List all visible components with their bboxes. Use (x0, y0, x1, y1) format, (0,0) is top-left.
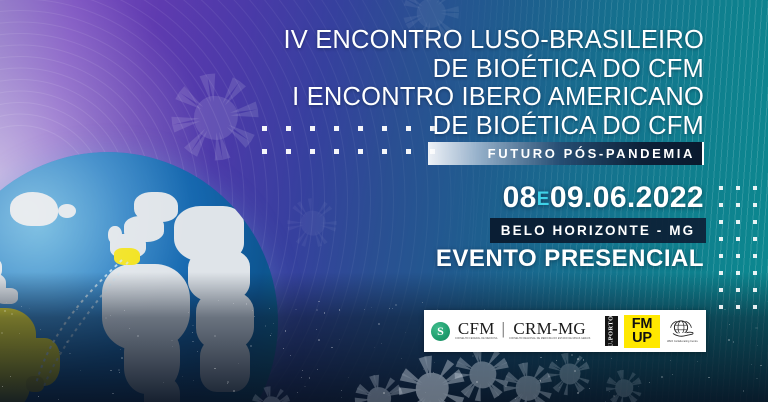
event-format-label: EVENTO PRESENCIAL (436, 245, 704, 273)
particle-speck (538, 378, 539, 379)
particle-speck (729, 324, 730, 325)
particle-speck (613, 395, 615, 397)
date-day-second: 09.06.2022 (550, 181, 704, 214)
grid-dot (753, 254, 757, 258)
particle-speck (677, 308, 678, 309)
particle-speck (756, 378, 758, 380)
particle-speck (559, 387, 560, 388)
grid-dot (753, 220, 757, 224)
grid-dot (382, 149, 387, 154)
virus-particle-icon (352, 372, 406, 402)
particle-speck (318, 301, 319, 302)
particle-speck (472, 355, 474, 357)
particle-speck (540, 357, 541, 358)
grid-dot (262, 149, 267, 154)
grid-dot (719, 254, 723, 258)
particle-speck (760, 365, 761, 366)
virus-particle-icon (452, 344, 514, 402)
theme-banner: FUTURO PÓS-PANDEMIA (428, 142, 704, 165)
particle-speck (728, 339, 730, 341)
grid-dot (753, 288, 757, 292)
uporto-logo: U.PORTO (605, 316, 618, 346)
grid-dot (719, 220, 723, 224)
particle-speck (540, 380, 541, 381)
particle-speck (708, 377, 709, 378)
particle-speck (757, 345, 758, 346)
grid-dot (753, 203, 757, 207)
virus-particle-icon (604, 368, 644, 402)
globe-illustration (0, 152, 278, 402)
fmup-logo: FM UP (624, 315, 660, 348)
grid-dot (736, 288, 740, 292)
particle-speck (364, 309, 365, 310)
grid-dot (310, 149, 315, 154)
grid-dot (286, 149, 291, 154)
virus-particle-icon (395, 352, 469, 402)
particle-speck (295, 309, 296, 310)
title-line-3: I ENCONTRO IBERO AMERICANO (283, 83, 704, 112)
who-collaborating-centre-logo: WHO Collaborating Centre (666, 315, 699, 348)
particle-speck (318, 339, 320, 341)
grid-dot (753, 186, 757, 190)
virus-particle-icon (546, 350, 594, 398)
cfm-seal-icon: S (431, 322, 450, 341)
particle-speck (389, 308, 390, 309)
fmup-line-1: FM (632, 317, 653, 331)
grid-dot (719, 305, 723, 309)
theme-banner-label: FUTURO PÓS-PANDEMIA (488, 142, 695, 165)
particle-speck (316, 329, 317, 330)
grid-dot (736, 254, 740, 258)
grid-dot (736, 203, 740, 207)
particle-speck (383, 392, 385, 394)
sponsor-logo-bar: S CFM CONSELHO FEDERAL DE MEDICINA | CRM… (424, 310, 706, 352)
particle-speck (743, 390, 744, 391)
particle-speck (381, 343, 382, 344)
particle-speck (583, 359, 584, 360)
particle-speck (556, 360, 557, 361)
city-band: BELO HORIZONTE - MG (490, 218, 706, 243)
who-globe-hand-icon (670, 319, 696, 339)
particle-speck (638, 386, 639, 387)
grid-dot (719, 203, 723, 207)
particle-speck (423, 369, 424, 370)
grid-dot (719, 237, 723, 241)
grid-dot (358, 149, 363, 154)
grid-dot (719, 288, 723, 292)
logo-divider: | (502, 320, 505, 338)
cfm-name: CFM (458, 320, 495, 338)
title-line-1: IV ENCONTRO LUSO-BRASILEIRO (283, 26, 704, 55)
particle-speck (341, 390, 342, 391)
grid-dot (736, 186, 740, 190)
particle-speck (735, 301, 736, 302)
particle-speck (755, 327, 757, 329)
virus-particle-icon (286, 196, 340, 250)
particle-speck (733, 341, 735, 343)
particle-speck (395, 304, 397, 306)
grid-dot (736, 271, 740, 275)
grid-dot (753, 271, 757, 275)
cfm-subtitle: CONSELHO FEDERAL DE MEDICINA (455, 338, 498, 342)
particle-speck (331, 347, 332, 348)
fmup-line-2: UP (632, 331, 652, 345)
grid-dot (262, 126, 267, 131)
particle-speck (317, 369, 318, 370)
date-conjunction: E (537, 189, 550, 210)
particle-speck (339, 309, 340, 310)
particle-speck (401, 358, 402, 359)
city-label: BELO HORIZONTE - MG (490, 218, 706, 243)
particle-speck (589, 388, 590, 389)
particle-speck (661, 376, 663, 378)
particle-speck (348, 377, 349, 378)
particle-speck (611, 358, 612, 359)
particle-speck (371, 307, 372, 308)
particle-speck (309, 377, 310, 378)
particle-speck (697, 361, 698, 362)
particle-speck (324, 312, 325, 313)
event-banner: IV ENCONTRO LUSO-BRASILEIRO DE BIOÉTICA … (0, 0, 768, 402)
particle-speck (425, 392, 426, 393)
grid-dot (753, 305, 757, 309)
date-day-first: 08 (503, 181, 537, 214)
cfm-crm-logo: S CFM CONSELHO FEDERAL DE MEDICINA | CRM… (431, 320, 599, 341)
who-subtitle: WHO Collaborating Centre (667, 339, 698, 343)
event-title: IV ENCONTRO LUSO-BRASILEIRO DE BIOÉTICA … (283, 26, 704, 140)
grid-dot (719, 186, 723, 190)
grid-dot (736, 220, 740, 224)
particle-speck (571, 354, 573, 356)
particle-speck (290, 355, 291, 356)
grid-dot (753, 237, 757, 241)
grid-dot (334, 149, 339, 154)
particle-speck (577, 392, 578, 393)
virus-particle-icon (500, 360, 556, 402)
particle-speck (422, 302, 423, 303)
grid-dot (736, 237, 740, 241)
particle-speck (672, 374, 673, 375)
particle-speck (609, 391, 610, 392)
particle-speck (577, 358, 579, 360)
particle-speck (316, 309, 318, 311)
virus-particle-icon (168, 70, 264, 166)
grid-dot (406, 149, 411, 154)
grid-dot (719, 271, 723, 275)
particle-speck (515, 398, 516, 399)
particle-speck (434, 362, 435, 363)
particle-speck (339, 339, 340, 340)
uporto-name: U.PORTO (608, 315, 615, 347)
particle-speck (724, 309, 725, 310)
particle-speck (301, 377, 303, 379)
event-date: 08E09.06.2022 (503, 181, 704, 215)
crm-subtitle: CONSELHO REGIONAL DE MEDICINA DO ESTADO … (509, 338, 590, 342)
particle-speck (297, 392, 298, 393)
particle-speck (670, 360, 671, 361)
particle-speck (374, 347, 375, 348)
particle-speck (405, 332, 406, 333)
title-line-4: DE BIOÉTICA DO CFM (283, 112, 704, 141)
title-line-2: DE BIOÉTICA DO CFM (283, 55, 704, 84)
particle-speck (283, 348, 284, 349)
particle-speck (378, 323, 380, 325)
particle-speck (304, 386, 306, 388)
particle-speck (341, 397, 342, 398)
particle-speck (285, 330, 287, 332)
particle-speck (574, 370, 576, 372)
grid-dot (736, 305, 740, 309)
particle-speck (302, 370, 303, 371)
particle-speck (476, 381, 478, 383)
particle-speck (392, 308, 393, 309)
particle-speck (649, 382, 650, 383)
particle-speck (433, 372, 434, 373)
crm-name: CRM-MG (513, 320, 586, 338)
particle-speck (751, 364, 752, 365)
